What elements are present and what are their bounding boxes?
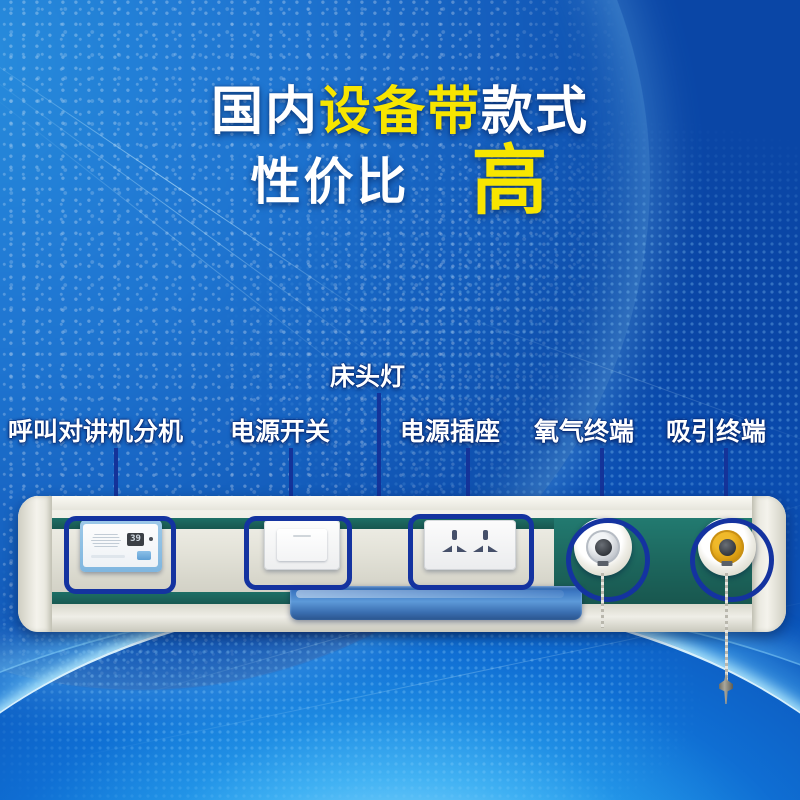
product-banner: 国内设备带款式 性价比 高 呼叫对讲机分机 电源开关 床头灯 电源插座 氧气终端… (0, 0, 800, 800)
callout-label-power-switch: 电源开关 (230, 412, 330, 448)
headline-emphasis-word: 高 (472, 148, 550, 216)
headline-line-1: 国内设备带款式 (0, 86, 800, 138)
bed-lamp-diffuser[interactable] (290, 586, 582, 620)
highlight-box-nurse-call-intercom (64, 516, 176, 594)
headline-line-2: 性价比 (251, 157, 410, 207)
suction-pull-cord (725, 570, 728, 690)
callout-label-bed-lamp: 床头灯 (330, 357, 405, 393)
highlight-box-power-socket (408, 514, 534, 590)
headline-block: 国内设备带款式 性价比 高 (0, 86, 800, 138)
highlight-box-power-switch (244, 516, 352, 590)
headline-text-highlight: 设备带 (319, 83, 481, 141)
headline-line-2-row: 性价比 高 (0, 148, 800, 216)
callout-label-oxygen-terminal: 氧气终端 (534, 412, 634, 448)
oxygen-pull-cord (601, 570, 604, 628)
panel-end-cap-left (18, 496, 52, 632)
callout-label-power-socket: 电源插座 (400, 412, 500, 448)
bed-lamp-gloss (296, 590, 564, 598)
highlight-circle-oxygen-terminal (566, 518, 650, 602)
headline-text-part1: 国内 (211, 83, 319, 141)
headline-text-part2: 款式 (481, 83, 589, 141)
panel-top-edge (18, 496, 786, 510)
callout-label-suction-terminal: 吸引终端 (666, 412, 766, 448)
callout-label-nurse-call-intercom: 呼叫对讲机分机 (8, 412, 183, 448)
highlight-circle-suction-terminal (690, 518, 774, 602)
